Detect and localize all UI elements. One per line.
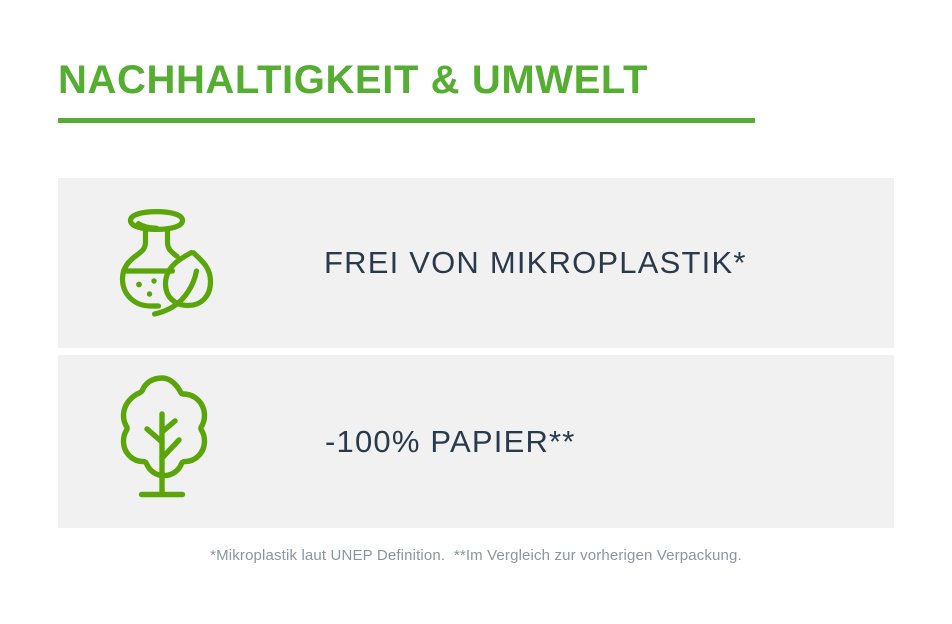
feature-label-mikroplastik: FREI VON MIKROPLASTIK* bbox=[324, 244, 747, 282]
flask-leaf-icon bbox=[58, 178, 266, 348]
page-title: NACHHALTIGKEIT & UMWELT bbox=[58, 56, 758, 104]
footnote-text: *Mikroplastik laut UNEP Definition. **Im… bbox=[0, 545, 952, 567]
sustainability-infographic: NACHHALTIGKEIT & UMWELT bbox=[0, 0, 952, 624]
heading-block: NACHHALTIGKEIT & UMWELT bbox=[58, 56, 758, 123]
feature-panel-papier: -100% PAPIER** bbox=[58, 355, 894, 528]
feature-panel-list: FREI VON MIKROPLASTIK* bbox=[58, 178, 894, 528]
title-underline-rule bbox=[58, 118, 755, 123]
tree-icon bbox=[58, 355, 266, 528]
feature-label-papier: -100% PAPIER** bbox=[325, 423, 576, 461]
feature-panel-mikroplastik: FREI VON MIKROPLASTIK* bbox=[58, 178, 894, 348]
